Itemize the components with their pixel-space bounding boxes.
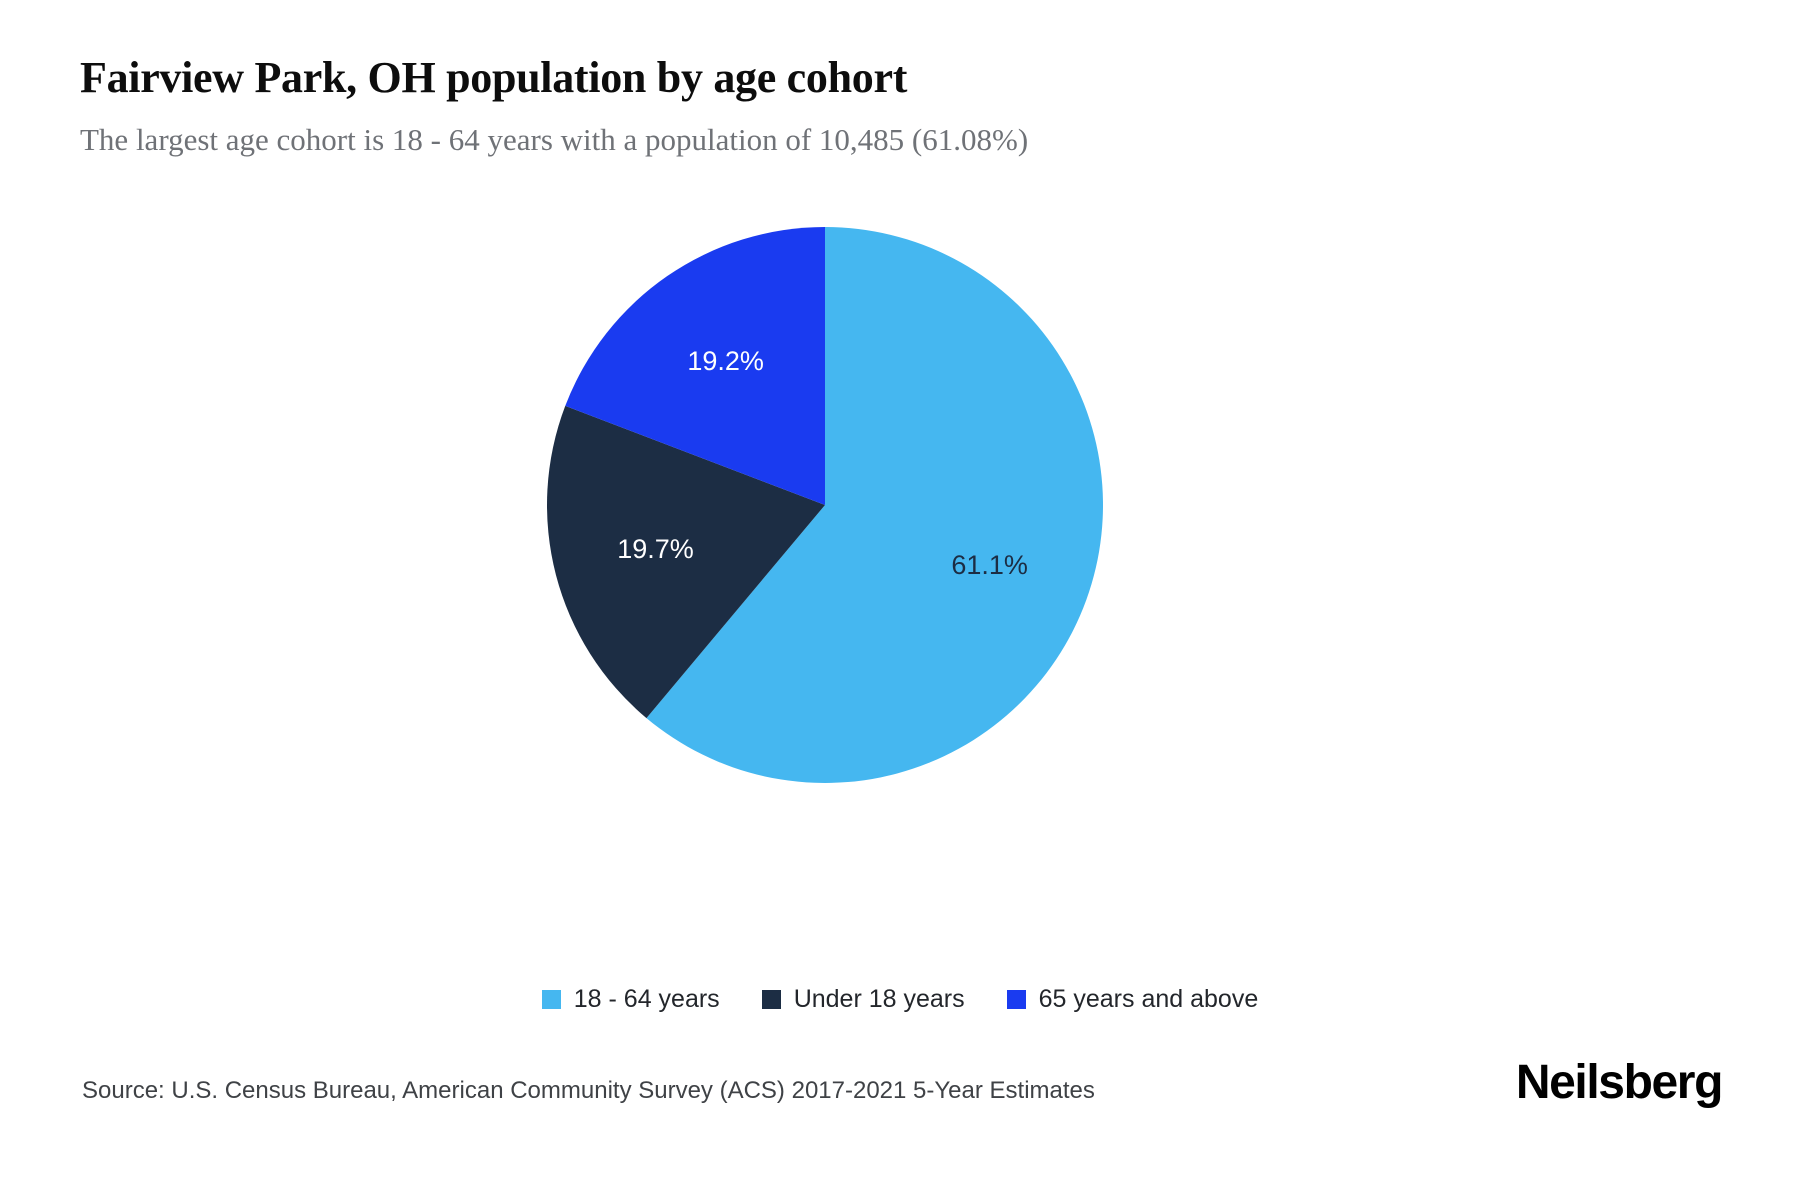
legend-item-label: 65 years and above [1039, 985, 1259, 1014]
pie-slice-label: 19.2% [687, 346, 764, 376]
brand-logo: Neilsberg [1516, 1055, 1722, 1110]
legend-item-label: Under 18 years [794, 985, 965, 1014]
legend-swatch-icon [1007, 990, 1026, 1009]
legend-item-label: 18 - 64 years [574, 985, 720, 1014]
pie-chart-svg: 61.1%19.7%19.2% [545, 225, 1105, 785]
pie-slice-label: 61.1% [951, 550, 1028, 580]
pie-slice-group [547, 227, 1103, 783]
legend-item-under-18[interactable]: Under 18 years [762, 985, 965, 1014]
chart-subtitle: The largest age cohort is 18 - 64 years … [80, 122, 1028, 158]
page-title: Fairview Park, OH population by age coho… [80, 52, 907, 103]
legend-item-65-and-above[interactable]: 65 years and above [1007, 985, 1259, 1014]
legend-swatch-icon [762, 990, 781, 1009]
pie-slice-label: 19.7% [617, 534, 694, 564]
legend-item-18-64[interactable]: 18 - 64 years [542, 985, 720, 1014]
legend-swatch-icon [542, 990, 561, 1009]
chart-legend: 18 - 64 years Under 18 years 65 years an… [0, 985, 1800, 1014]
pie-chart: 61.1%19.7%19.2% [545, 225, 1105, 785]
source-note: Source: U.S. Census Bureau, American Com… [82, 1077, 1095, 1105]
